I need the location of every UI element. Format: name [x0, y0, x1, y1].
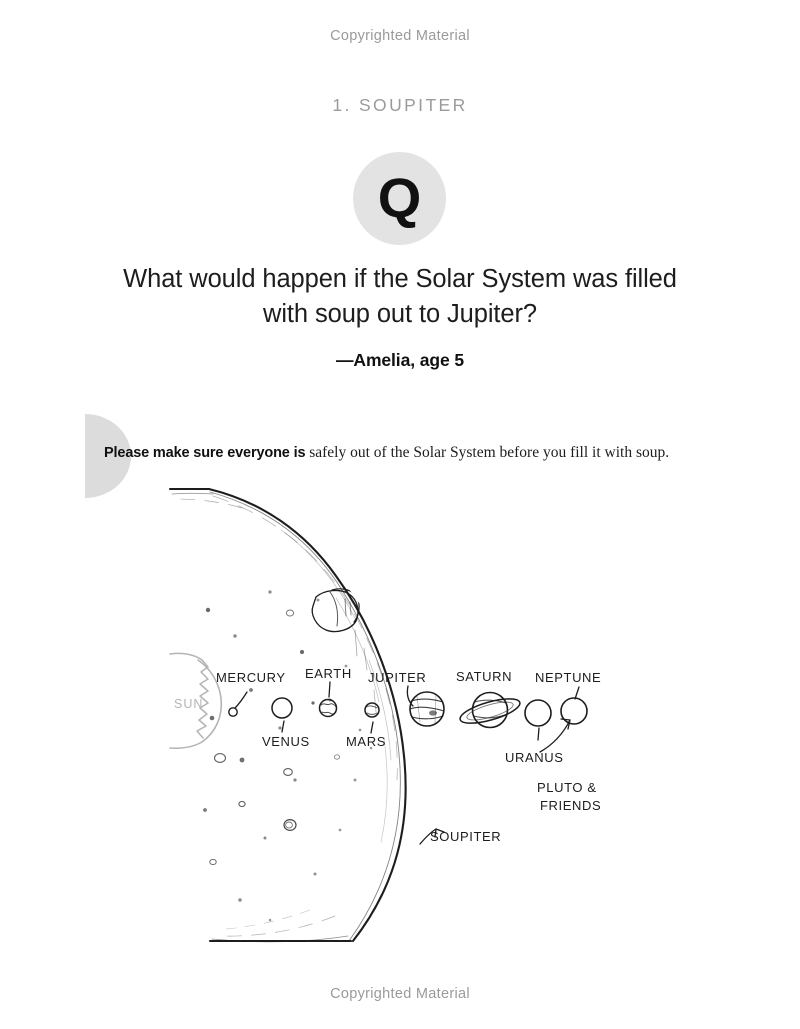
label-pluto: PLUTO & [537, 780, 597, 795]
soup-speckles [203, 590, 372, 921]
label-mars: MARS [346, 734, 386, 749]
chapter-title: 1. SOUPITER [0, 95, 800, 116]
book-page: Copyrighted Material 1. SOUPITER Q What … [0, 0, 800, 1029]
label-soupiter: SOUPITER [430, 829, 501, 844]
watermark-top: Copyrighted Material [0, 28, 800, 44]
label-pluto-line2: FRIENDS [540, 798, 601, 813]
label-mercury: MERCURY [216, 670, 286, 685]
label-arrowheads [435, 719, 570, 837]
planet-neptune [561, 698, 587, 724]
label-sun: SUN [174, 697, 203, 711]
answer-paragraph: Please make sure everyone is safely out … [104, 442, 704, 464]
label-neptune: NEPTUNE [535, 670, 601, 685]
soupiter-illustration: SUN [150, 480, 650, 955]
planet-jupiter [410, 692, 444, 726]
answer-lead-in: Please make sure everyone is [104, 445, 305, 461]
label-uranus: URANUS [505, 750, 564, 765]
crouton-shape [312, 589, 359, 632]
watermark-bottom: Copyrighted Material [0, 986, 800, 1002]
question-badge-letter: Q [378, 170, 422, 226]
planet-mercury [229, 708, 237, 716]
answer-body: safely out of the Solar System before yo… [305, 444, 669, 461]
question-attribution: —Amelia, age 5 [100, 350, 700, 371]
planet-saturn [458, 693, 523, 729]
label-earth: EARTH [305, 666, 352, 681]
label-venus: VENUS [262, 734, 310, 749]
planet-uranus [525, 700, 551, 726]
question-text: What would happen if the Solar System wa… [100, 262, 700, 332]
label-jupiter: JUPITER [368, 670, 426, 685]
question-badge: Q [353, 152, 446, 245]
label-saturn: SATURN [456, 669, 512, 684]
planet-venus [272, 698, 292, 718]
